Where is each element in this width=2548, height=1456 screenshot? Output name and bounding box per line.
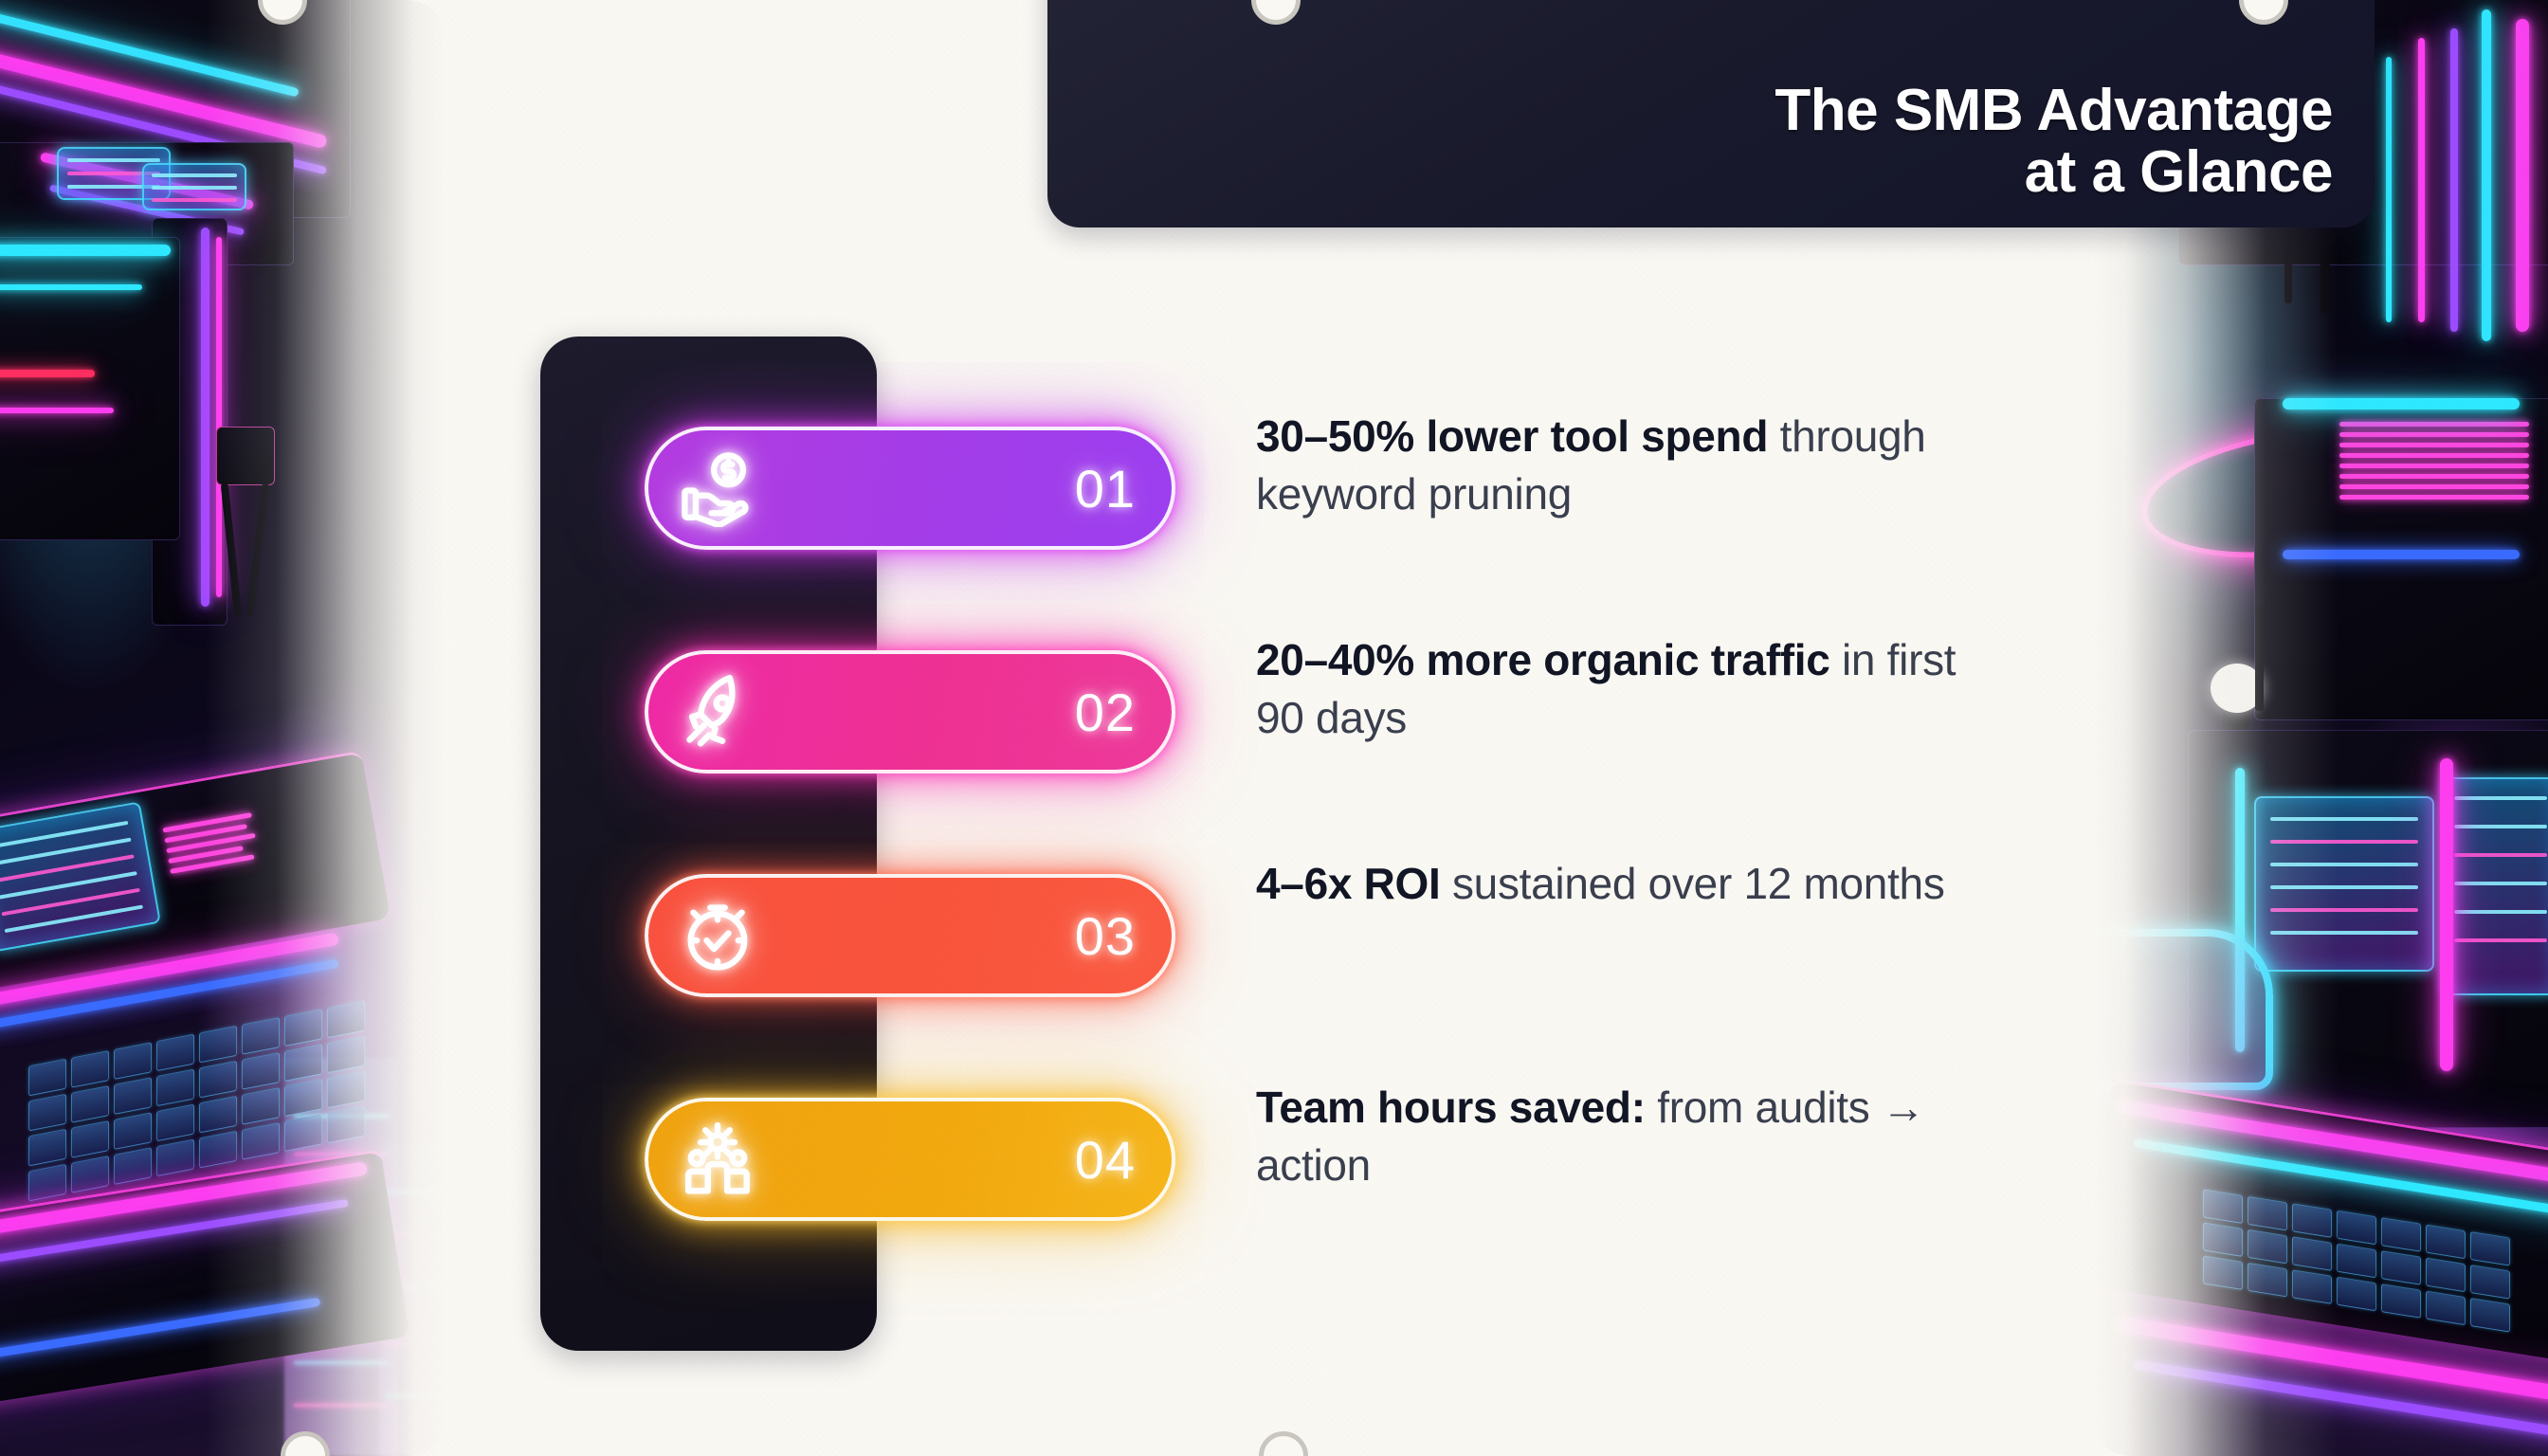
- pill-item-03[interactable]: 03: [645, 874, 1175, 997]
- statistics-list: 30–50% lower tool spend through keyword …: [1256, 408, 1995, 1302]
- neon-bar: [2418, 38, 2425, 322]
- neon-bar: [0, 408, 114, 413]
- stat-item-01: 30–50% lower tool spend through keyword …: [1256, 408, 1995, 631]
- stat-text-02: 20–40% more organic traffic in first 90 …: [1256, 631, 1995, 747]
- stat-text-01: 30–50% lower tool spend through keyword …: [1256, 408, 1995, 523]
- neon-bar: [2450, 28, 2458, 332]
- neon-bar: [0, 370, 95, 377]
- pill-row: 04: [645, 1098, 1194, 1321]
- neon-bar: [2386, 57, 2392, 322]
- pill-item-02[interactable]: 02: [645, 650, 1175, 773]
- stat-item-03: 4–6x ROI sustained over 12 months: [1256, 855, 1995, 1079]
- stat-bold-01: 30–50% lower tool spend: [1256, 411, 1768, 461]
- neon-bar: [216, 237, 222, 597]
- pill-item-04[interactable]: 04: [645, 1098, 1175, 1221]
- console-screen: [2254, 796, 2434, 972]
- binding-notch: [1259, 1431, 1308, 1456]
- neon-bar: [0, 245, 171, 256]
- header-panel: The SMB Advantage at a Glance: [1047, 0, 2375, 227]
- console-screen: [142, 163, 246, 210]
- neon-bar: [2440, 758, 2453, 1071]
- pill-row: 01: [645, 427, 1194, 650]
- infographic-canvas: The SMB Advantage at a Glance 01: [0, 0, 2548, 1456]
- pill-number: 03: [1075, 905, 1136, 967]
- neon-bar: [2283, 398, 2520, 409]
- stat-text-03: 4–6x ROI sustained over 12 months: [1256, 855, 1995, 913]
- rocket-icon: [677, 671, 758, 753]
- numbered-pill-list: 01 02: [645, 427, 1194, 1321]
- stat-item-04: Team hours saved: from audits → action: [1256, 1079, 1995, 1302]
- pill-number: 01: [1075, 458, 1136, 519]
- console-screen: [2444, 777, 2548, 995]
- stopwatch-check-icon: [677, 895, 758, 976]
- stat-rest-03: sustained over 12 months: [1441, 859, 1945, 908]
- neon-bar: [0, 284, 142, 290]
- stat-item-02: 20–40% more organic traffic in first 90 …: [1256, 631, 1995, 855]
- pill-number: 02: [1075, 682, 1136, 743]
- stat-bold-04: Team hours saved:: [1256, 1083, 1646, 1132]
- hand-holding-dollar-icon: [677, 447, 758, 529]
- pill-row: 02: [645, 650, 1194, 874]
- neon-bar: [2283, 550, 2520, 559]
- pill-number: 04: [1075, 1129, 1136, 1191]
- antenna-pole: [408, 152, 413, 341]
- neon-bar: [2482, 9, 2491, 341]
- camera-head: [216, 427, 275, 485]
- pill-row: 03: [645, 874, 1194, 1098]
- machinery-block: [0, 237, 180, 540]
- conduit-pipe: [2255, 607, 2264, 711]
- left-cyberpunk-illustration: [0, 0, 446, 1456]
- stat-bold-03: 4–6x ROI: [1256, 859, 1441, 908]
- neon-bar: [2516, 19, 2529, 332]
- neon-louver: [2339, 422, 2529, 500]
- stat-bold-02: 20–40% more organic traffic: [1256, 635, 1830, 684]
- cyan-bubble-canopy: [2093, 929, 2273, 1090]
- team-group-icon: [677, 1119, 758, 1200]
- pill-item-01[interactable]: 01: [645, 427, 1175, 550]
- page-title-line-1: The SMB Advantage: [1774, 80, 2333, 141]
- page-title-line-2: at a Glance: [2025, 141, 2333, 203]
- neon-bar: [201, 227, 209, 607]
- stat-text-04: Team hours saved: from audits → action: [1256, 1079, 1995, 1194]
